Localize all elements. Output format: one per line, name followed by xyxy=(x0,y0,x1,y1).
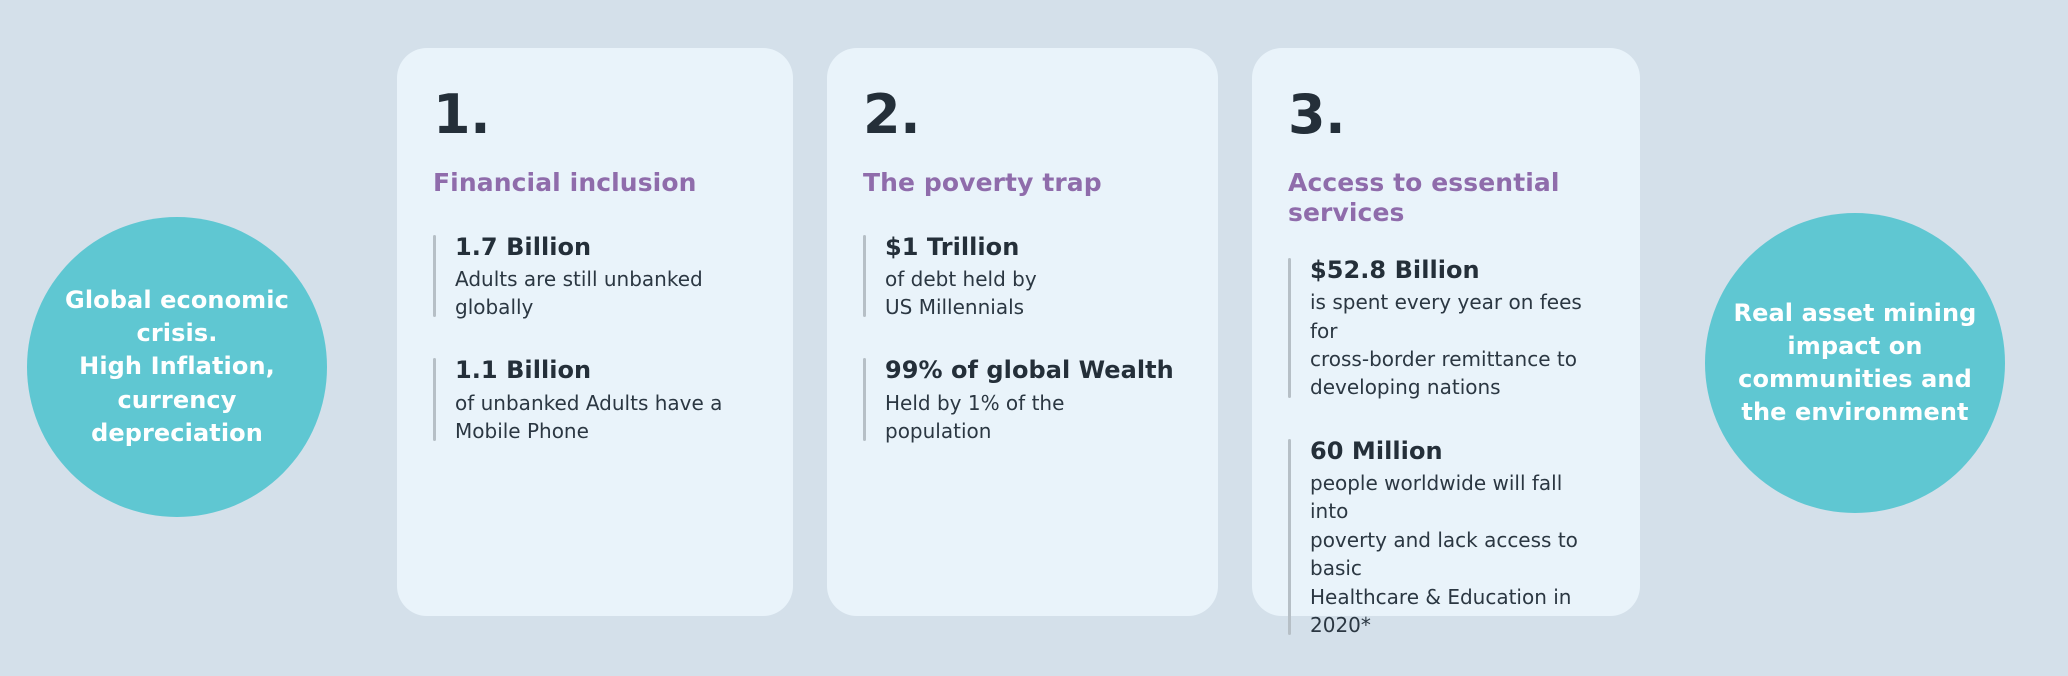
card-title: The poverty trap xyxy=(863,168,1182,198)
stat-value: $52.8 Billion xyxy=(1310,255,1604,286)
card-title: Access to essential services xyxy=(1288,168,1604,227)
stat-item: 60 Million people worldwide will fall in… xyxy=(1288,436,1604,640)
card-title: Financial inclusion xyxy=(433,168,757,198)
card-number: 1. xyxy=(433,88,757,142)
stat-item: 99% of global Wealth Held by 1% of the p… xyxy=(863,355,1182,445)
card-number: 2. xyxy=(863,88,1182,142)
stat-description: is spent every year on fees for cross-bo… xyxy=(1310,288,1604,402)
stat-list: 1.7 Billion Adults are still unbanked gl… xyxy=(433,232,757,446)
stat-value: 1.7 Billion xyxy=(455,232,757,263)
right-circle-text: Real asset mining impact on communities … xyxy=(1731,297,1979,429)
stat-accent-rule xyxy=(1288,258,1291,398)
card-access-essential-services: 3. Access to essential services $52.8 Bi… xyxy=(1252,48,1640,616)
stat-accent-rule xyxy=(1288,439,1291,636)
stat-item: 1.1 Billion of unbanked Adults have a Mo… xyxy=(433,355,757,445)
stat-list: $52.8 Billion is spent every year on fee… xyxy=(1288,255,1604,639)
left-context-circle: Global economic crisis. High Inflation, … xyxy=(27,217,327,517)
stat-description: of unbanked Adults have a Mobile Phone xyxy=(455,389,757,446)
stat-value: 1.1 Billion xyxy=(455,355,757,386)
stat-list: $1 Trillion of debt held by US Millennia… xyxy=(863,232,1182,446)
cards-row: 1. Financial inclusion 1.7 Billion Adult… xyxy=(397,48,1640,616)
stat-item: 1.7 Billion Adults are still unbanked gl… xyxy=(433,232,757,322)
stat-accent-rule xyxy=(433,358,436,441)
stat-accent-rule xyxy=(863,235,866,318)
stat-item: $1 Trillion of debt held by US Millennia… xyxy=(863,232,1182,322)
stat-description: of debt held by US Millennials xyxy=(885,265,1182,322)
card-number: 3. xyxy=(1288,88,1604,142)
stat-item: $52.8 Billion is spent every year on fee… xyxy=(1288,255,1604,402)
card-poverty-trap: 2. The poverty trap $1 Trillion of debt … xyxy=(827,48,1218,616)
stat-accent-rule xyxy=(863,358,866,441)
stat-description: people worldwide will fall into poverty … xyxy=(1310,469,1604,639)
stat-description: Adults are still unbanked globally xyxy=(455,265,757,322)
stat-value: 60 Million xyxy=(1310,436,1604,467)
stat-accent-rule xyxy=(433,235,436,318)
infographic-canvas: Global economic crisis. High Inflation, … xyxy=(0,0,2068,676)
stat-description: Held by 1% of the population xyxy=(885,389,1182,446)
card-financial-inclusion: 1. Financial inclusion 1.7 Billion Adult… xyxy=(397,48,793,616)
stat-value: 99% of global Wealth xyxy=(885,355,1182,386)
left-circle-text: Global economic crisis. High Inflation, … xyxy=(53,284,301,450)
right-context-circle: Real asset mining impact on communities … xyxy=(1705,213,2005,513)
stat-value: $1 Trillion xyxy=(885,232,1182,263)
